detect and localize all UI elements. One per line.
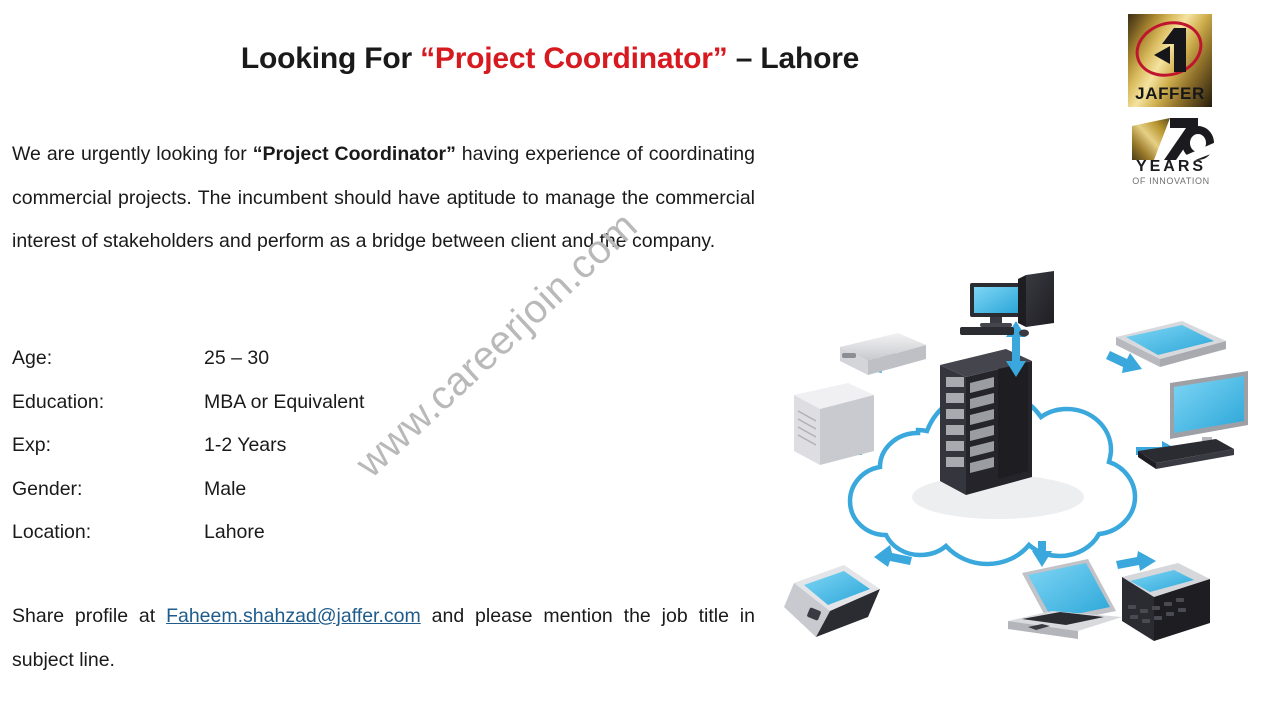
job-details-table: Age: 25 – 30 Education: MBA or Equivalen… bbox=[12, 337, 364, 555]
anniversary-years-label: YEARS bbox=[1124, 158, 1218, 176]
detail-value-gender: Male bbox=[204, 468, 364, 512]
smartphone-icon bbox=[784, 565, 880, 637]
detail-value-location: Lahore bbox=[204, 511, 364, 555]
network-storage-box-icon bbox=[794, 383, 874, 465]
logo-arrow-one-icon bbox=[1148, 24, 1194, 76]
desktop-computer-icon bbox=[960, 271, 1054, 337]
table-row: Age: 25 – 30 bbox=[12, 337, 364, 381]
table-row: Exp: 1-2 Years bbox=[12, 424, 364, 468]
page-title: Looking For “Project Coordinator” – Laho… bbox=[0, 42, 1100, 76]
laptop-icon bbox=[1008, 559, 1122, 639]
cloud-network-illustration bbox=[770, 265, 1270, 665]
anniversary-badge: YEARS OF INNOVATION bbox=[1124, 112, 1218, 190]
anniversary-subtitle: OF INNOVATION bbox=[1124, 176, 1218, 186]
seventy-years-icon bbox=[1124, 112, 1218, 164]
detail-label-education: Education: bbox=[12, 381, 204, 425]
logo-wordmark: JAFFER bbox=[1128, 84, 1212, 104]
page-title-prefix: Looking For bbox=[241, 42, 420, 75]
detail-value-education: MBA or Equivalent bbox=[204, 381, 364, 425]
detail-label-experience: Exp: bbox=[12, 424, 204, 468]
detail-label-gender: Gender: bbox=[12, 468, 204, 512]
table-row: Gender: Male bbox=[12, 468, 364, 512]
table-row: Location: Lahore bbox=[12, 511, 364, 555]
external-drive-icon bbox=[840, 333, 926, 375]
detail-value-age: 25 – 30 bbox=[204, 337, 364, 381]
intro-role-highlight: “Project Coordinator” bbox=[253, 143, 456, 165]
jaffer-logo: JAFFER bbox=[1128, 14, 1212, 107]
detail-label-age: Age: bbox=[12, 337, 204, 381]
page-title-location: – Lahore bbox=[728, 42, 860, 75]
server-racks-icon bbox=[912, 349, 1084, 519]
page-title-role: “Project Coordinator” bbox=[420, 42, 728, 75]
email-link[interactable]: Faheem.shahzad@jaffer.com bbox=[166, 605, 421, 627]
blackberry-phone-icon bbox=[1122, 563, 1210, 641]
detail-value-experience: 1-2 Years bbox=[204, 424, 364, 468]
intro-text-before: We are urgently looking for bbox=[12, 143, 253, 165]
table-row: Education: MBA or Equivalent bbox=[12, 381, 364, 425]
monitor-keyboard-icon bbox=[1138, 371, 1248, 469]
contact-paragraph: Share profile at Faheem.shahzad@jaffer.c… bbox=[12, 595, 755, 682]
intro-paragraph: We are urgently looking for “Project Coo… bbox=[12, 133, 755, 264]
contact-text-before: Share profile at bbox=[12, 605, 166, 627]
detail-label-location: Location: bbox=[12, 511, 204, 555]
